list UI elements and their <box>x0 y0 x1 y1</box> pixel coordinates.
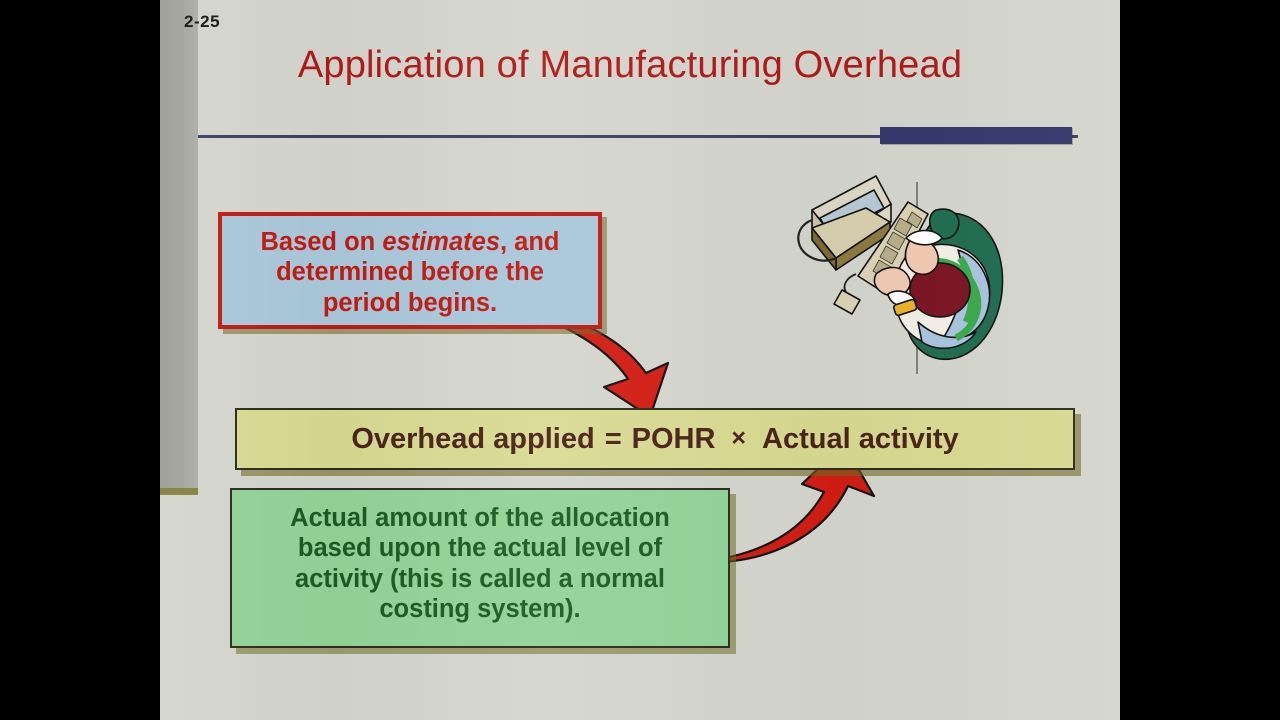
estimates-callout: Based on estimates, and determined befor… <box>218 212 602 329</box>
actual-line-1: Actual amount of the allocation <box>232 503 728 533</box>
estimates-line-1-post: , and <box>500 228 560 256</box>
formula-times-operator: × <box>715 424 762 454</box>
slide-number: 2-25 <box>184 12 220 32</box>
actual-activity-callout: Actual amount of the allocation based up… <box>230 488 730 648</box>
page-title: Application of Manufacturing Overhead <box>160 44 1100 87</box>
formula-term-1: Overhead applied <box>351 422 594 457</box>
estimates-line-2: determined before the <box>222 257 598 287</box>
estimates-line-3: period begins. <box>222 288 598 318</box>
actual-line-3: activity (this is called a normal <box>232 564 728 594</box>
actual-line-2: based upon the actual level of <box>232 533 728 563</box>
estimates-line-1-pre: Based on <box>260 228 382 256</box>
formula-equals-operator: = <box>595 422 632 457</box>
title-divider-tab <box>880 127 1072 144</box>
actual-line-4: costing system). <box>232 594 728 624</box>
person-at-computer-clipart <box>790 162 1020 384</box>
estimates-line-1: Based on estimates, and <box>222 227 598 257</box>
overhead-applied-formula: Overhead applied = POHR × Actual activit… <box>235 408 1075 470</box>
letterbox-left <box>0 0 160 720</box>
slide-canvas: 2-25 Application of Manufacturing Overhe… <box>160 0 1120 720</box>
letterbox-right <box>1120 0 1280 720</box>
screen: 2-25 Application of Manufacturing Overhe… <box>0 0 1280 720</box>
slide-left-accent-band-foot <box>160 488 198 495</box>
formula-term-3: Actual activity <box>762 422 959 457</box>
formula-term-2: POHR <box>632 422 716 457</box>
estimates-emphasis: estimates <box>382 228 500 256</box>
